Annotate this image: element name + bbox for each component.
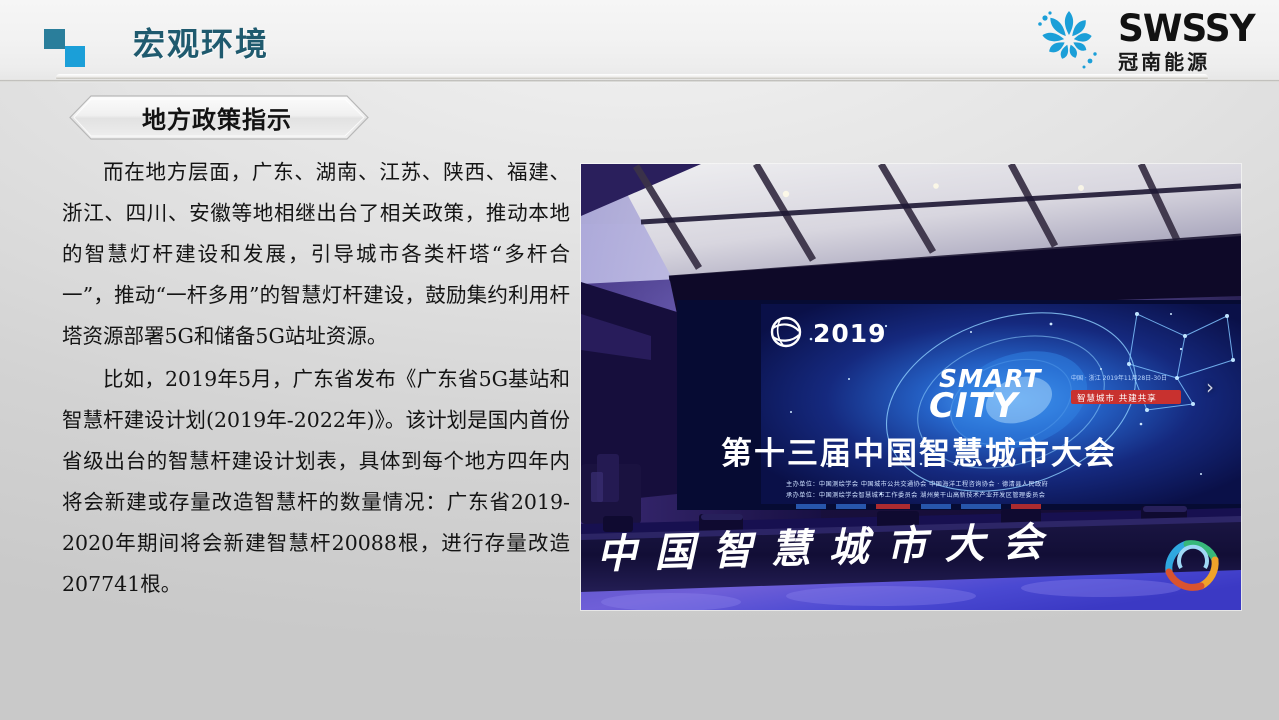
square-light-icon (65, 46, 85, 67)
conference-photo[interactable]: 2019 SMART CITY 中国 · 浙江 2019年11月28日-30日 … (581, 164, 1241, 610)
body-text-column: 而在地方层面，广东、湖南、江苏、陕西、福建、浙江、四川、安徽等地相继出台了相关政… (62, 152, 570, 607)
svg-text:主办单位：中国测绘学会 中国城市公共交通协会 中国海: 主办单位：中国测绘学会 中国城市公共交通协会 中国海洋工程咨询协会 · 德清县人… (786, 480, 1048, 488)
paragraph-1: 而在地方层面，广东、湖南、江苏、陕西、福建、浙江、四川、安徽等地相继出台了相关政… (62, 152, 570, 357)
page-header: 宏观环境 (0, 0, 1279, 82)
square-dark-icon (44, 29, 65, 49)
next-arrow-icon[interactable]: › (1197, 374, 1223, 400)
brand-name: SWSSY (1118, 10, 1255, 47)
svg-text:第十三届中国智慧城市大会: 第十三届中国智慧城市大会 (721, 436, 1117, 472)
svg-text:智慧城市 共建共享: 智慧城市 共建共享 (1077, 393, 1157, 404)
page-title: 宏观环境 (133, 19, 269, 65)
paragraph-2: 比如，2019年5月，广东省发布《广东省5G基站和智慧杆建设计划(2019年-2… (62, 359, 570, 605)
header-decoration-squares (44, 29, 86, 67)
water-droplet-flower-icon (1032, 6, 1106, 76)
section-tab-local-policy[interactable]: 地方政策指示 (69, 95, 369, 140)
svg-text:承办单位：中国测绘学会智慧城市工作委员会 湖州莫干山高新: 承办单位：中国测绘学会智慧城市工作委员会 湖州莫干山高新技术产业开发区管理委员会 (786, 491, 1045, 499)
svg-text:2019: 2019 (813, 319, 887, 348)
svg-text:中国 · 浙江 2019年11月28日-30日: 中国 · 浙江 2019年11月28日-30日 (1071, 374, 1167, 382)
brand-text-block: SWSSY 冠南能源 (1118, 10, 1259, 72)
section-tab-label: 地方政策指示 (69, 95, 369, 140)
brand-logo: SWSSY 冠南能源 (1032, 4, 1259, 78)
svg-text:CITY: CITY (929, 386, 1021, 426)
brand-subtitle: 冠南能源 (1118, 52, 1210, 72)
